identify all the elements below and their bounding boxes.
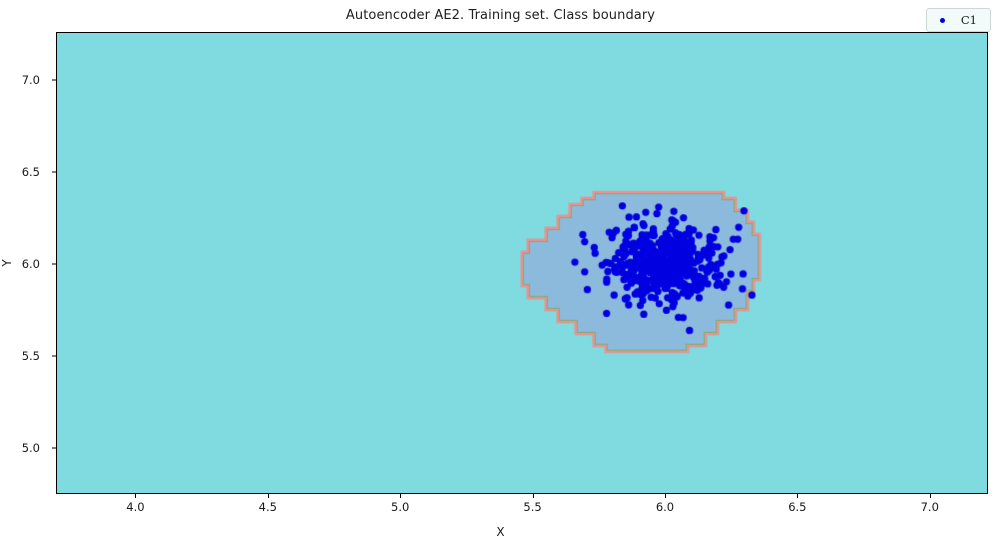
x-tick-label: 6.0 <box>640 500 690 514</box>
x-tick-mark <box>930 494 931 498</box>
y-tick-label: 7.0 <box>0 73 40 87</box>
x-tick-mark <box>135 494 136 498</box>
x-tick-mark <box>268 494 269 498</box>
chart-legend[interactable]: C1 <box>926 8 991 32</box>
legend-label-c1: C1 <box>961 13 981 27</box>
y-tick-mark <box>52 447 56 448</box>
legend-marker-c1 <box>940 18 945 23</box>
x-tick-label: 7.0 <box>905 500 955 514</box>
scatter-canvas <box>57 33 987 493</box>
x-axis-ticks: 4.04.55.05.56.06.57.0 <box>0 494 1001 524</box>
y-tick-mark <box>52 79 56 80</box>
chart-figure: Autoencoder AE2. Training set. Class bou… <box>0 0 1001 547</box>
x-tick-mark <box>400 494 401 498</box>
plot-area <box>56 32 988 494</box>
x-axis-label: X <box>0 525 1001 539</box>
x-tick-label: 5.5 <box>508 500 558 514</box>
x-tick-mark <box>533 494 534 498</box>
y-tick-mark <box>52 263 56 264</box>
x-tick-label: 4.5 <box>243 500 293 514</box>
y-tick-mark <box>52 171 56 172</box>
x-tick-label: 4.0 <box>110 500 160 514</box>
y-tick-mark <box>52 355 56 356</box>
x-tick-label: 6.5 <box>772 500 822 514</box>
chart-title: Autoencoder AE2. Training set. Class bou… <box>0 8 1001 23</box>
y-tick-label: 5.5 <box>0 349 40 363</box>
x-tick-mark <box>797 494 798 498</box>
y-axis-label: Y <box>0 259 14 266</box>
y-tick-label: 6.5 <box>0 165 40 179</box>
x-tick-mark <box>665 494 666 498</box>
y-tick-label: 5.0 <box>0 441 40 455</box>
y-axis-ticks: 5.05.56.06.57.0 <box>0 0 52 547</box>
x-tick-label: 5.0 <box>375 500 425 514</box>
